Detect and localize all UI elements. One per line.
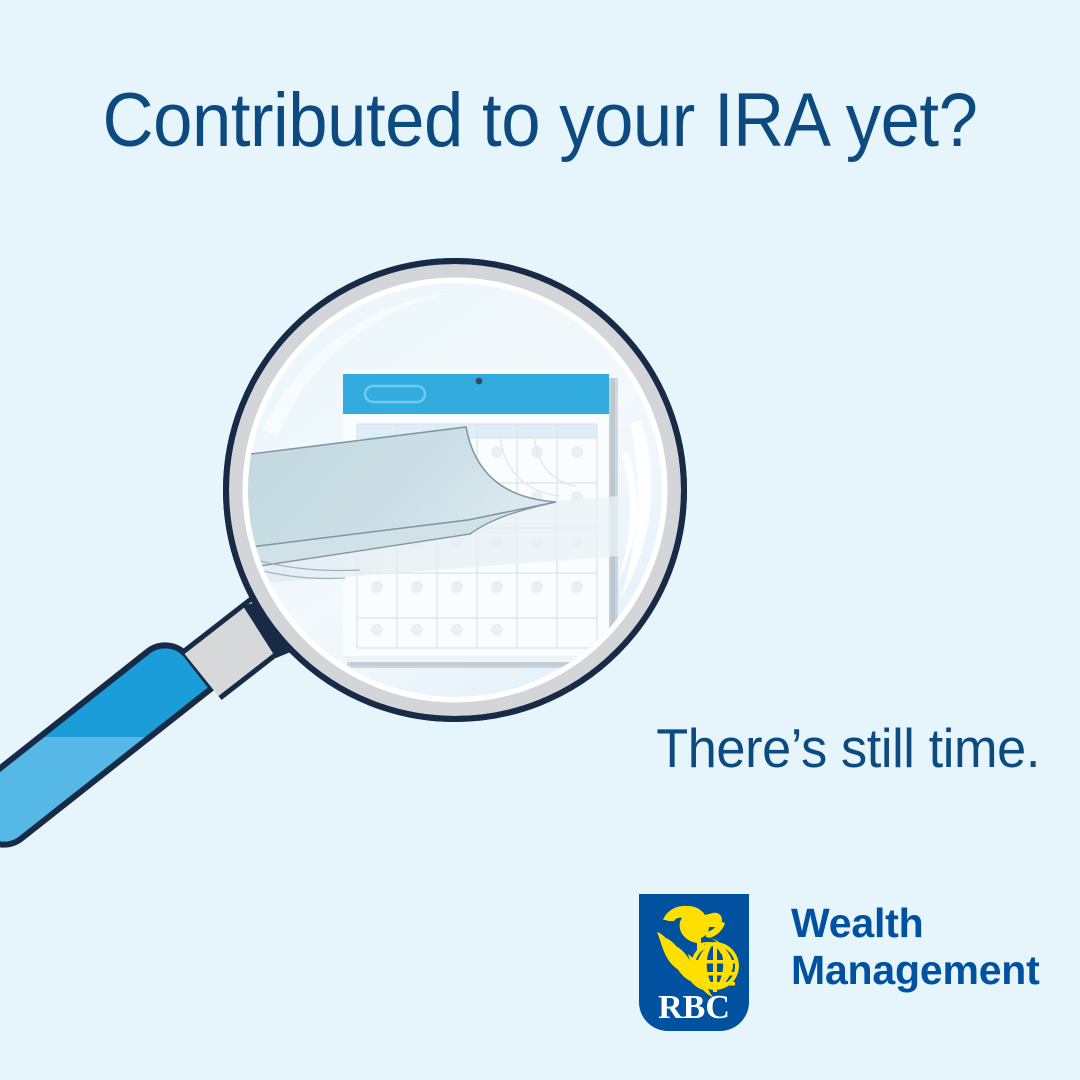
magnifier-lens-assembly — [226, 261, 684, 719]
handle-grip — [0, 645, 212, 844]
rbc-shield-logo: RBC — [639, 894, 749, 1031]
tagline: There’s still time. — [656, 716, 1040, 780]
magnifier-handle — [0, 592, 310, 845]
rbc-logo-lockup: RBC Wealth Management — [639, 894, 1040, 1031]
globe-axis — [713, 944, 717, 992]
lens-tint — [248, 283, 662, 697]
rbc-shield-svg: RBC — [639, 894, 749, 1031]
rbc-wordmark: RBC — [658, 989, 730, 1026]
advertisement-canvas: Contributed to your IRA yet? — [0, 0, 1080, 1080]
logo-line-1: Wealth — [791, 900, 1040, 947]
logo-line-2: Management — [791, 947, 1040, 994]
logo-wordmark-text: Wealth Management — [791, 894, 1040, 994]
